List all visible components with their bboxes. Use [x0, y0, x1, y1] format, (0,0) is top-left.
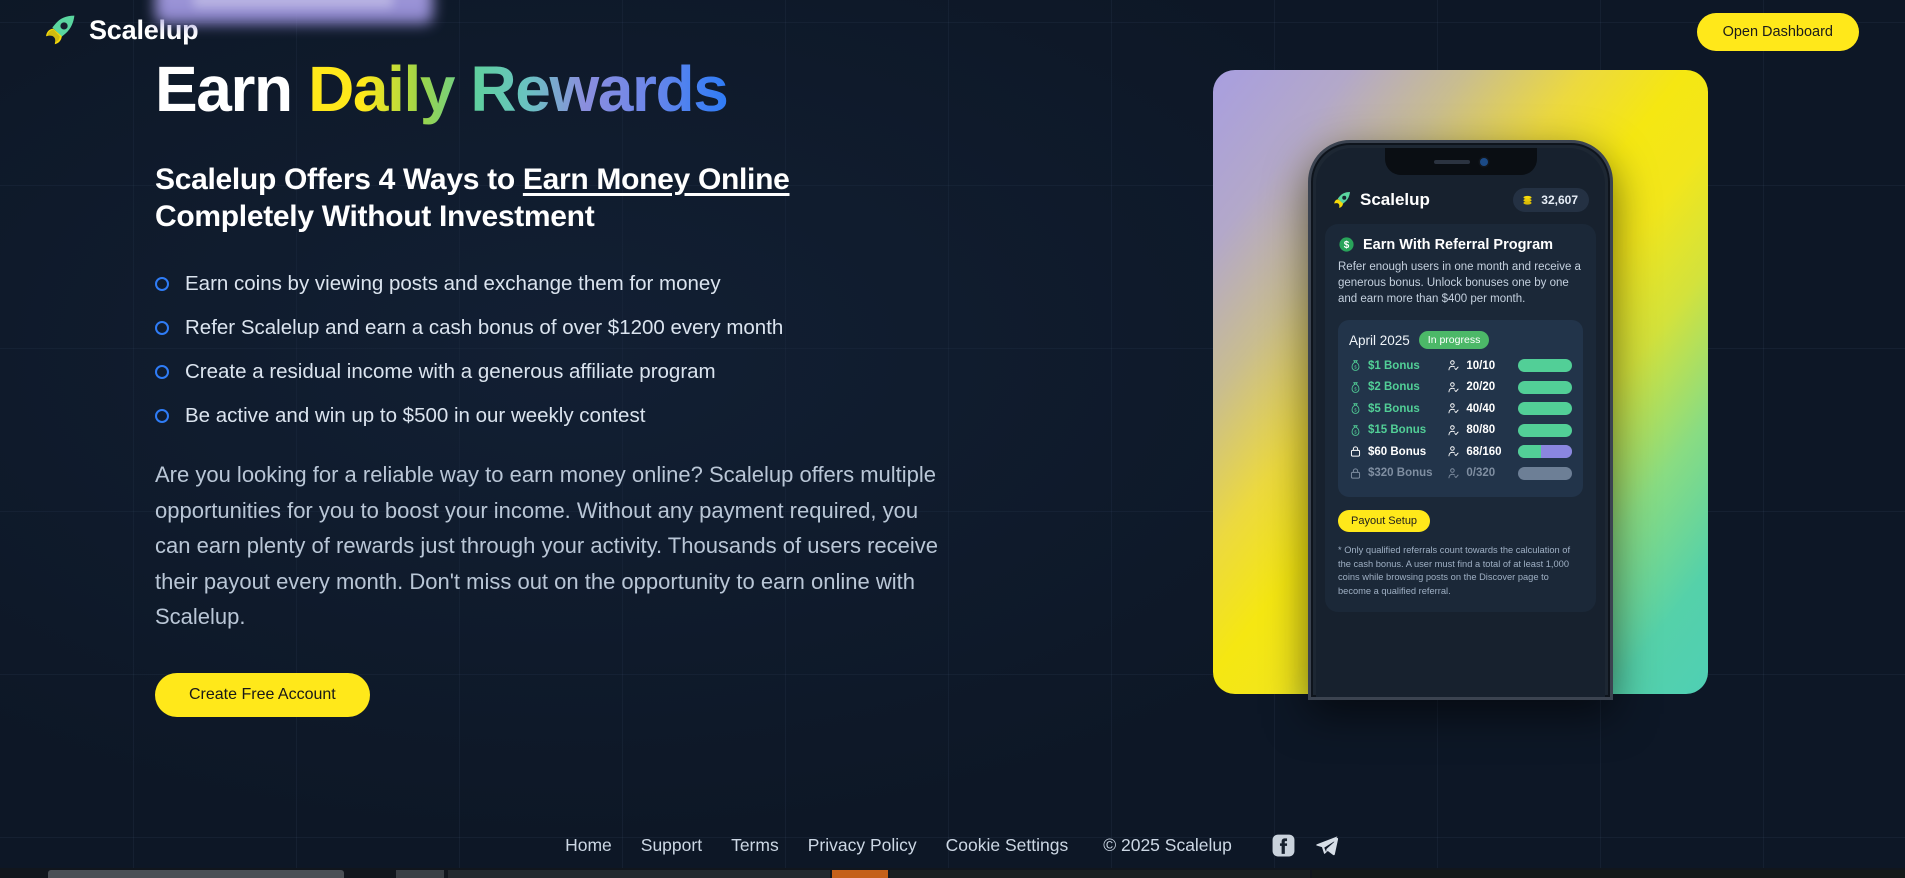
user-check-icon [1447, 424, 1460, 437]
user-check-icon [1447, 445, 1460, 458]
panel-description: Refer enough users in one month and rece… [1338, 260, 1583, 307]
coins-icon [1521, 194, 1534, 207]
blurred-notification-text [193, 0, 393, 8]
top-bar: Scalelup Open Dashboard [0, 0, 1905, 63]
svg-text:$: $ [1354, 408, 1357, 413]
os-taskbar [0, 868, 1905, 878]
benefit-label: Earn coins by viewing posts and exchange… [185, 272, 721, 296]
hero-paragraph: Are you looking for a reliable way to ea… [155, 457, 945, 635]
user-check-icon [1447, 381, 1460, 394]
bonus-label: $5 Bonus [1368, 403, 1441, 415]
circle-bullet-icon [155, 277, 169, 291]
open-dashboard-button[interactable]: Open Dashboard [1697, 13, 1859, 51]
benefit-label: Be active and win up to $500 in our week… [185, 404, 645, 428]
taskbar-window-1[interactable] [48, 870, 344, 878]
bonus-row: $$5 Bonus40/40 [1349, 401, 1572, 416]
benefit-item: Earn coins by viewing posts and exchange… [155, 272, 1095, 296]
footer-link-terms[interactable]: Terms [731, 835, 779, 856]
taskbar-window-3[interactable] [448, 870, 830, 878]
svg-text:$: $ [1354, 365, 1357, 370]
hero-subtitle-part-a: Scalelup Offers 4 Ways to [155, 163, 523, 196]
bonus-label: $60 Bonus [1368, 446, 1441, 458]
money-bag-icon: $ [1349, 381, 1362, 394]
progress-bar [1518, 381, 1572, 394]
bonus-row: $320 Bonus0/320 [1349, 466, 1572, 481]
bonus-count: 10/10 [1466, 360, 1512, 372]
money-bag-icon: $ [1349, 424, 1362, 437]
page-title-gradient: Daily Rewards [308, 53, 727, 125]
footer-link-cookie-settings[interactable]: Cookie Settings [946, 835, 1069, 856]
panel-header: $ Earn With Referral Program [1338, 236, 1583, 253]
bonus-header: April 2025 In progress [1349, 331, 1572, 349]
coin-balance-badge[interactable]: 32,607 [1513, 188, 1589, 212]
progress-bar [1518, 467, 1572, 480]
phone-speaker [1434, 160, 1470, 164]
bonus-label: $2 Bonus [1368, 381, 1441, 393]
progress-bar [1518, 402, 1572, 415]
dollar-circle-icon: $ [1338, 236, 1355, 253]
panel-title: Earn With Referral Program [1363, 237, 1553, 253]
phone-camera-icon [1480, 158, 1488, 166]
referral-panel: $ Earn With Referral Program Refer enoug… [1325, 224, 1596, 612]
bonus-label: $320 Bonus [1368, 467, 1441, 479]
circle-bullet-icon [155, 409, 169, 423]
rocket-icon [42, 12, 78, 48]
progress-bar [1518, 359, 1572, 372]
create-free-account-button[interactable]: Create Free Account [155, 673, 370, 717]
payout-setup-button[interactable]: Payout Setup [1338, 510, 1430, 532]
facebook-icon[interactable] [1271, 833, 1296, 858]
rocket-icon [1332, 190, 1352, 210]
coin-balance-value: 32,607 [1541, 193, 1578, 207]
bonus-row: $60 Bonus68/160 [1349, 444, 1572, 459]
hero-subtitle-part-b: Completely Without Investment [155, 200, 594, 233]
progress-bar [1518, 445, 1572, 458]
hero-section: Earn Daily Rewards Scalelup Offers 4 Way… [155, 55, 1095, 717]
bonus-month-label: April 2025 [1349, 333, 1410, 348]
phone-notch [1385, 148, 1537, 175]
taskbar-window-active[interactable] [832, 870, 888, 878]
bonus-count: 0/320 [1466, 467, 1512, 479]
bonus-progress-box: April 2025 In progress $$1 Bonus10/10$$2… [1338, 320, 1583, 497]
lock-icon [1349, 445, 1362, 458]
bonus-row: $$2 Bonus20/20 [1349, 380, 1572, 395]
progress-bar [1518, 424, 1572, 437]
bonus-count: 68/160 [1466, 446, 1512, 458]
phone-mockup: Scalelup 32,607 $ [1308, 140, 1613, 700]
panel-footnote: * Only qualified referrals count towards… [1338, 544, 1583, 598]
taskbar-window-2[interactable] [396, 870, 444, 878]
user-check-icon [1447, 359, 1460, 372]
app-header: Scalelup 32,607 [1316, 178, 1605, 222]
lock-icon [1349, 467, 1362, 480]
phone-screen: Scalelup 32,607 $ [1316, 148, 1605, 697]
status-badge: In progress [1419, 331, 1490, 349]
bonus-count: 20/20 [1466, 381, 1512, 393]
svg-text:$: $ [1354, 386, 1357, 391]
footer-link-support[interactable]: Support [641, 835, 702, 856]
user-check-icon [1447, 467, 1460, 480]
telegram-icon[interactable] [1315, 833, 1340, 858]
footer: HomeSupportTermsPrivacy PolicyCookie Set… [0, 833, 1905, 858]
circle-bullet-icon [155, 365, 169, 379]
benefits-list: Earn coins by viewing posts and exchange… [155, 272, 1095, 428]
benefit-item: Refer Scalelup and earn a cash bonus of … [155, 316, 1095, 340]
svg-text:$: $ [1344, 240, 1350, 251]
benefit-item: Be active and win up to $500 in our week… [155, 404, 1095, 428]
hero-subtitle-link[interactable]: Earn Money Online [523, 163, 790, 196]
bonus-label: $1 Bonus [1368, 360, 1441, 372]
money-bag-icon: $ [1349, 359, 1362, 372]
footer-link-privacy-policy[interactable]: Privacy Policy [808, 835, 917, 856]
page-title-plain: Earn [155, 53, 308, 125]
bonus-label: $15 Bonus [1368, 424, 1441, 436]
svg-text:$: $ [1354, 429, 1357, 434]
bonus-count: 80/80 [1466, 424, 1512, 436]
taskbar-window-5[interactable] [1312, 870, 1905, 878]
bonus-rows: $$1 Bonus10/10$$2 Bonus20/20$$5 Bonus40/… [1349, 358, 1572, 481]
bonus-row: $$15 Bonus80/80 [1349, 423, 1572, 438]
benefit-label: Refer Scalelup and earn a cash bonus of … [185, 316, 783, 340]
taskbar-window-4[interactable] [890, 870, 1310, 878]
copyright-text: © 2025 Scalelup [1103, 835, 1232, 856]
circle-bullet-icon [155, 321, 169, 335]
bonus-count: 40/40 [1466, 403, 1512, 415]
benefit-label: Create a residual income with a generous… [185, 360, 716, 384]
page-title: Earn Daily Rewards [155, 55, 1095, 124]
user-check-icon [1447, 402, 1460, 415]
hero-subtitle: Scalelup Offers 4 Ways to Earn Money Onl… [155, 162, 1095, 236]
money-bag-icon: $ [1349, 402, 1362, 415]
bonus-row: $$1 Bonus10/10 [1349, 358, 1572, 373]
footer-link-home[interactable]: Home [565, 835, 612, 856]
benefit-item: Create a residual income with a generous… [155, 360, 1095, 384]
app-name: Scalelup [1360, 190, 1430, 210]
